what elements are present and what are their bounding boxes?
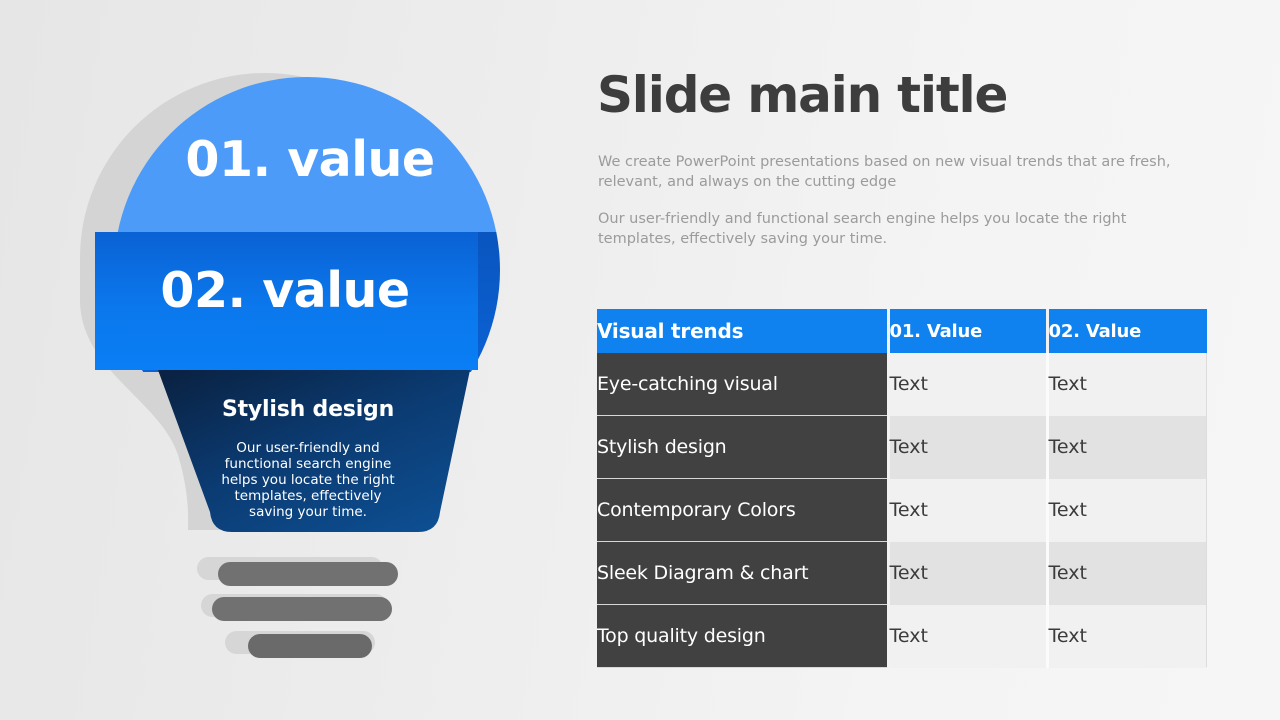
lightbulb-infographic: 01. value 02. value Stylish design Our u… (0, 0, 600, 720)
table-row: Contemporary Colors Text Text (597, 479, 1207, 542)
table-row: Sleek Diagram & chart Text Text (597, 542, 1207, 605)
intro-paragraph-1: We create PowerPoint presentations based… (598, 152, 1178, 192)
page-title: Slide main title (597, 66, 1007, 124)
table-row: Stylish design Text Text (597, 416, 1207, 479)
table-row-value-1: Text (888, 416, 1047, 479)
table-row-label: Sleek Diagram & chart (597, 542, 888, 605)
bulb-screw-base (0, 0, 600, 720)
table-row-value-2: Text (1047, 416, 1207, 479)
table-row-value-2: Text (1047, 353, 1207, 416)
table-row-value-2: Text (1047, 605, 1207, 668)
table-right-rule (1206, 353, 1207, 667)
visual-trends-table: Visual trends 01. Value 02. Value Eye-ca… (597, 309, 1207, 668)
table-header-value-2: 02. Value (1047, 309, 1207, 353)
content-panel: Slide main title We create PowerPoint pr… (597, 0, 1257, 720)
table-row-value-2: Text (1047, 542, 1207, 605)
table-row: Top quality design Text Text (597, 605, 1207, 668)
table-row-label: Stylish design (597, 416, 888, 479)
table-header-row: Visual trends 01. Value 02. Value (597, 309, 1207, 353)
intro-paragraph-2: Our user-friendly and functional search … (598, 209, 1158, 249)
slide-canvas: 01. value 02. value Stylish design Our u… (0, 0, 1280, 720)
table-row-value-2: Text (1047, 479, 1207, 542)
table-row: Eye-catching visual Text Text (597, 353, 1207, 416)
table-header-value-1: 01. Value (888, 309, 1047, 353)
table-row-label: Top quality design (597, 605, 888, 668)
table-header-label: Visual trends (597, 309, 888, 353)
table-row-value-1: Text (888, 605, 1047, 668)
table-row-label: Eye-catching visual (597, 353, 888, 416)
table-row-label: Contemporary Colors (597, 479, 888, 542)
table-row-value-1: Text (888, 542, 1047, 605)
table-body: Eye-catching visual Text Text Stylish de… (597, 353, 1207, 668)
table-row-value-1: Text (888, 353, 1047, 416)
table-row-value-1: Text (888, 479, 1047, 542)
